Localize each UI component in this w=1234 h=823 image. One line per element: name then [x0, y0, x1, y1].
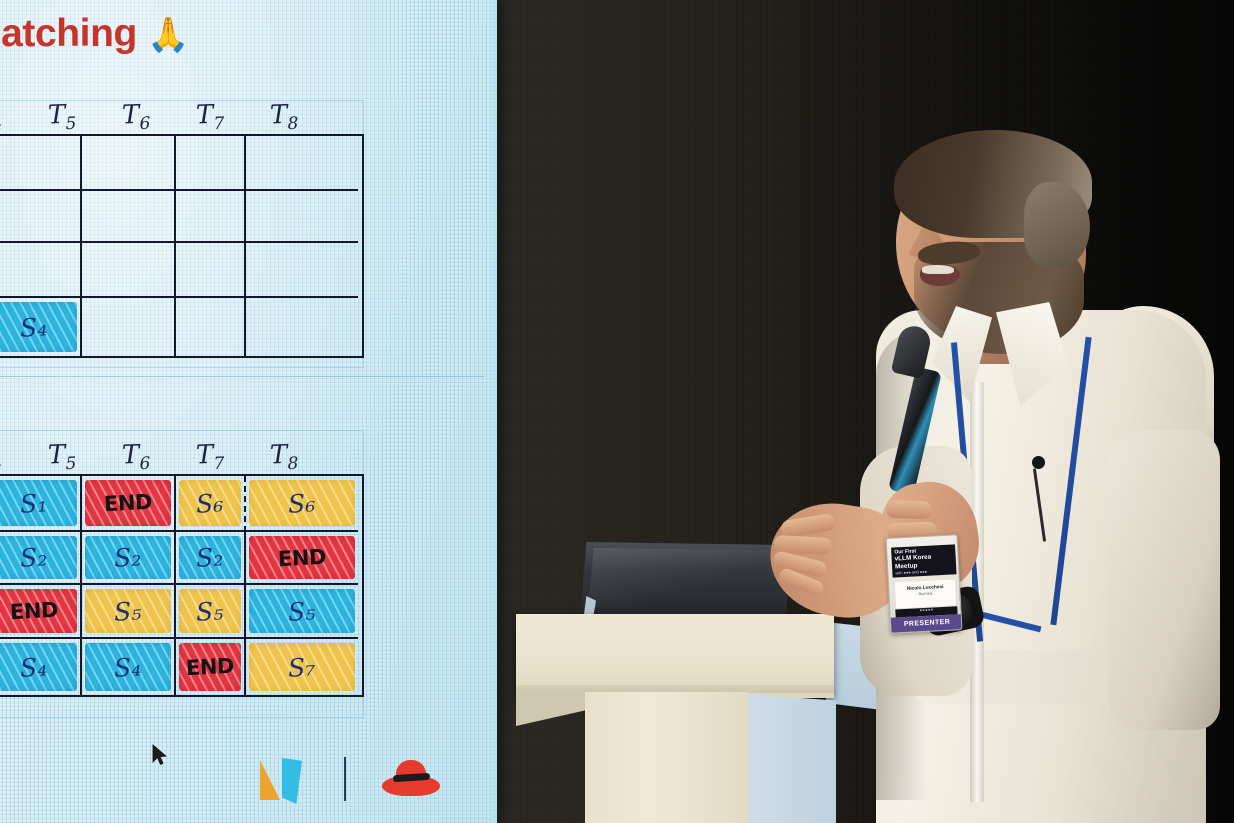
bottom-header-t5: T5	[47, 439, 76, 474]
top-table-header-row: T4 T5 T6 T7 T8	[0, 92, 366, 134]
bottom-cell-label-r1c4: S₆	[196, 488, 225, 518]
badge-role-label: PRESENTER	[891, 614, 963, 633]
top-header-t7: T7	[195, 99, 224, 134]
conference-photo-scene: ative Batching🙏 T4 T5 T6 T7 T8	[0, 0, 1234, 823]
top-cell-r2-c2	[0, 191, 82, 243]
finger	[780, 513, 836, 538]
folded-hands-emoji-icon: 🙏	[147, 16, 189, 54]
bottom-cell-r4-c3: S₄	[82, 639, 176, 695]
bottom-cell-r4-c2: S₄	[0, 639, 82, 695]
bottom-cell-r2-c2: S₂	[0, 532, 82, 585]
vllm-logo-orange-wedge	[260, 760, 280, 800]
top-header-t4: T4	[0, 99, 3, 134]
bottom-cell-label-r2c5: END	[277, 544, 326, 570]
slide-divider-rule	[0, 376, 484, 377]
laptop-screen-reflection	[588, 548, 784, 610]
table-row: S₄ S₄ S₄ END	[0, 639, 362, 695]
top-header-t6: T6	[121, 99, 150, 134]
bottom-header-t4: T4	[0, 439, 3, 474]
top-cell-r1-c4	[176, 136, 246, 191]
bottom-cell-r3-c3: S₅	[82, 585, 176, 639]
bottom-cell-label-r1c2: S₁	[20, 488, 49, 518]
top-cell-r1-c3	[82, 136, 176, 191]
screen-right-edge-highlight	[490, 0, 497, 823]
bottom-table-grid: S₁ END S₆ S₆	[0, 474, 364, 697]
bottom-cell-r2-c5: END	[246, 532, 358, 585]
slide-title: ative Batching🙏	[0, 12, 189, 56]
top-cell-r3-c3	[82, 243, 176, 298]
top-cell-r2-c4	[176, 191, 246, 243]
top-cell-r4-c5	[246, 298, 358, 356]
top-cell-label-s4b: S₄	[20, 312, 49, 342]
bottom-cell-label-r4c5: S₇	[288, 652, 317, 682]
top-cell-r1-c5	[246, 136, 358, 191]
bottom-header-t6: T6	[121, 439, 150, 474]
table-row: S₄ S₄	[0, 298, 362, 356]
bottom-cell-r1-c3: END	[82, 476, 176, 532]
bottom-cell-r1-c4: S₆	[176, 476, 246, 532]
table-row	[0, 191, 362, 243]
top-cell-r2-c5	[246, 191, 358, 243]
mouse-cursor-icon	[152, 744, 168, 766]
vllm-logo	[260, 758, 320, 804]
bottom-cell-label-r4c3: S₄	[114, 652, 143, 682]
bottom-cell-label-r1c3: END	[103, 490, 152, 516]
presenter-hair-fade-side	[1024, 182, 1090, 268]
top-cell-r4-c4	[176, 298, 246, 356]
table-row: S₃ END S₅ S₅	[0, 585, 362, 639]
bottom-batching-table: T4 T5 T6 T7 T8 S₁ END	[0, 432, 366, 697]
vllm-logo-blue-stroke	[282, 758, 302, 804]
podium-column-front	[585, 692, 748, 823]
lavalier-mic-icon	[1032, 456, 1045, 469]
top-cell-r3-c4	[176, 243, 246, 298]
bottom-cell-label-r2c3: S₂	[114, 542, 143, 572]
finger	[886, 500, 933, 520]
table-row: S₂ S₂ S₂ S₂	[0, 532, 362, 585]
top-cell-r3-c2	[0, 243, 82, 298]
slide-title-text: ative Batching	[0, 12, 137, 55]
badge-header: Our First vLLM Korea Meetup with ●●● and…	[891, 544, 956, 577]
top-cell-r2-c3	[82, 191, 176, 243]
bottom-cell-label-r4c2: S₄	[20, 652, 49, 682]
red-hat-fedora-logo	[382, 760, 440, 798]
bottom-cell-r4-c4: END	[176, 639, 246, 695]
bottom-cell-r3-c4: S₅	[176, 585, 246, 639]
top-cell-r1-c2	[0, 136, 82, 191]
presenter: Our First vLLM Korea Meetup with ●●● and…	[756, 130, 1234, 823]
bottom-cell-label-r2c4: S₂	[196, 542, 225, 572]
bottom-table-header-row: T4 T5 T6 T7 T8	[0, 432, 366, 474]
top-cell-r4-c3	[82, 298, 176, 356]
table-row	[0, 136, 362, 191]
bottom-cell-r1-c5: S₆	[246, 476, 358, 532]
top-batching-table: T4 T5 T6 T7 T8	[0, 92, 366, 358]
bottom-header-t7: T7	[195, 439, 224, 474]
top-cell-r4-c2: S₄	[0, 298, 82, 356]
badge-name-area: Nicolo Lucchesi Red Hat	[895, 579, 956, 608]
bottom-cell-label-r4c4: END	[185, 654, 234, 680]
presenter-teeth	[922, 265, 954, 274]
table-row: S₁ END S₆ S₆	[0, 476, 362, 532]
bottom-cell-r3-c5: S₅	[246, 585, 358, 639]
bottom-cell-label-r3c4: S₅	[196, 596, 225, 626]
bottom-cell-r4-c5: S₇	[246, 639, 358, 695]
bottom-cell-r2-c3: S₂	[82, 532, 176, 585]
conference-badge: Our First vLLM Korea Meetup with ●●● and…	[886, 534, 963, 634]
table-row	[0, 243, 362, 298]
bottom-cell-label-r3c3: S₅	[114, 596, 143, 626]
top-cell-r3-c5	[246, 243, 358, 298]
bottom-cell-label-r3c5: S₅	[288, 596, 317, 626]
bottom-cell-label-r3c2: END	[9, 598, 58, 624]
bottom-cell-label-r2c2: S₂	[20, 542, 49, 572]
bottom-cell-r3-c2: END	[0, 585, 82, 639]
top-table-grid: S₄ S₄	[0, 134, 364, 358]
bottom-cell-label-r1c5: S₆	[288, 488, 317, 518]
bottom-header-t8: T8	[269, 439, 298, 474]
logo-divider	[344, 757, 346, 801]
top-header-t8: T8	[269, 99, 298, 134]
bottom-cell-r2-c4: S₂	[176, 532, 246, 585]
projection-screen: ative Batching🙏 T4 T5 T6 T7 T8	[0, 0, 497, 823]
top-header-t5: T5	[47, 99, 76, 134]
bottom-cell-r1-c2: S₁	[0, 476, 82, 532]
presenter-right-arm	[1108, 430, 1220, 730]
